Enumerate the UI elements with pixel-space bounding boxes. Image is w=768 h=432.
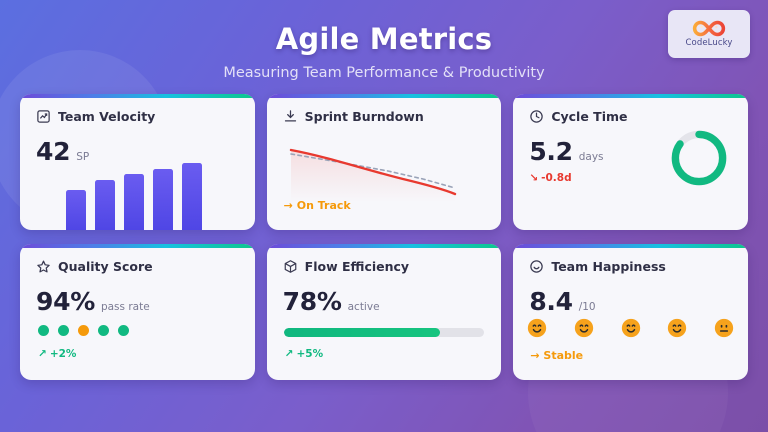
- stat-value: 8.4: [529, 287, 572, 316]
- card-accent-bar: [267, 94, 502, 98]
- card-title: Quality Score: [58, 259, 153, 274]
- card-quality-score[interactable]: Quality Score 94% pass rate ↗ +2%: [20, 244, 255, 380]
- infinity-icon: [692, 20, 726, 37]
- delta-arrow: ↘: [529, 172, 538, 184]
- logo-text: CodeLucky: [686, 38, 733, 48]
- quality-dot-indicators: [38, 325, 129, 336]
- quality-dot-3: [78, 325, 89, 336]
- status-arrow: →: [284, 199, 293, 212]
- page-header: Agile Metrics Measuring Team Performance…: [0, 0, 768, 81]
- status-label: Stable: [543, 349, 583, 362]
- line-chart-icon: [36, 109, 51, 124]
- card-accent-bar: [513, 94, 748, 98]
- card-title: Team Velocity: [58, 109, 155, 124]
- page-title: Agile Metrics: [0, 22, 768, 56]
- card-accent-bar: [20, 94, 255, 98]
- clock-icon: [529, 109, 544, 124]
- card-accent-bar: [513, 244, 748, 248]
- bar-1: [66, 190, 86, 230]
- stat-unit: /10: [579, 301, 596, 313]
- star-icon: [36, 259, 51, 274]
- bar-3: [124, 174, 144, 230]
- progress-fill: [284, 328, 441, 337]
- card-sprint-burndown[interactable]: Sprint Burndown → On Track: [267, 94, 502, 230]
- status-badge: → On Track: [284, 199, 351, 212]
- happy-face-icon-1: [527, 318, 547, 338]
- quality-dot-2: [58, 325, 69, 336]
- delta-indicator: ↗ +2%: [38, 348, 76, 360]
- stat-unit: pass rate: [101, 301, 150, 313]
- stat-row: 78% active: [283, 287, 486, 316]
- delta-value: -0.8d: [541, 172, 571, 184]
- happy-face-icon-3: [621, 318, 641, 338]
- card-header: Team Velocity: [36, 109, 239, 124]
- smiley-icon: [529, 259, 544, 274]
- card-cycle-time[interactable]: Cycle Time 5.2 days ↘ -0.8d: [513, 94, 748, 230]
- card-header: Quality Score: [36, 259, 239, 274]
- metrics-grid: Team Velocity 42 SP Sprint Burndown: [20, 94, 748, 380]
- stat-unit: days: [579, 151, 604, 163]
- cube-icon: [283, 259, 298, 274]
- card-header: Cycle Time: [529, 109, 732, 124]
- happy-face-icon-4: [667, 318, 687, 338]
- stat-unit: active: [348, 301, 380, 313]
- delta-arrow: ↗: [38, 348, 47, 360]
- velocity-bar-chart: [66, 160, 202, 230]
- card-header: Flow Efficiency: [283, 259, 486, 274]
- card-title: Cycle Time: [551, 109, 627, 124]
- cycle-time-donut-gauge: [668, 127, 730, 189]
- bar-5: [182, 163, 202, 230]
- stat-value: 5.2: [529, 137, 572, 166]
- happiness-face-indicators: [527, 318, 734, 338]
- status-arrow: →: [530, 349, 539, 362]
- card-team-happiness[interactable]: Team Happiness 8.4 /10: [513, 244, 748, 380]
- stat-row: 8.4 /10: [529, 287, 732, 316]
- card-title: Team Happiness: [551, 259, 666, 274]
- delta-indicator: ↗ +5%: [285, 348, 323, 360]
- bar-4: [153, 169, 173, 230]
- delta-value: +5%: [296, 348, 323, 360]
- card-accent-bar: [267, 244, 502, 248]
- neutral-face-icon-5: [714, 318, 734, 338]
- flow-efficiency-progress-bar: [284, 328, 485, 337]
- card-flow-efficiency[interactable]: Flow Efficiency 78% active ↗ +5%: [267, 244, 502, 380]
- quality-dot-4: [98, 325, 109, 336]
- delta-value: +2%: [50, 348, 77, 360]
- card-accent-bar: [20, 244, 255, 248]
- card-team-velocity[interactable]: Team Velocity 42 SP: [20, 94, 255, 230]
- donut-value-arc: [675, 134, 722, 181]
- brand-logo[interactable]: CodeLucky: [668, 10, 750, 58]
- page-subtitle: Measuring Team Performance & Productivit…: [0, 65, 768, 81]
- happy-face-icon-2: [574, 318, 594, 338]
- card-title: Flow Efficiency: [305, 259, 409, 274]
- bar-2: [95, 180, 115, 230]
- card-header: Team Happiness: [529, 259, 732, 274]
- card-title: Sprint Burndown: [305, 109, 424, 124]
- quality-dot-1: [38, 325, 49, 336]
- stat-value: 94%: [36, 287, 95, 316]
- card-header: Sprint Burndown: [283, 109, 486, 124]
- quality-dot-5: [118, 325, 129, 336]
- stat-row: 94% pass rate: [36, 287, 239, 316]
- stat-value: 78%: [283, 287, 342, 316]
- download-icon: [283, 109, 298, 124]
- status-badge: → Stable: [530, 349, 583, 362]
- delta-arrow: ↗: [285, 348, 294, 360]
- status-label: On Track: [297, 199, 351, 212]
- burndown-line-chart: [283, 140, 488, 202]
